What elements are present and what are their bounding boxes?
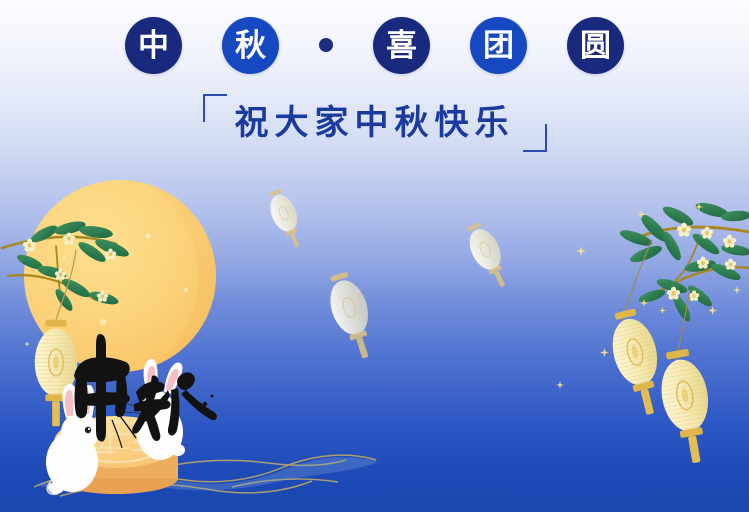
- corner-bracket-close-icon: [523, 124, 547, 152]
- festival-phrase-badges: 中 秋 喜 团 圆: [0, 16, 749, 74]
- badge-tuan[interactable]: 团: [470, 17, 527, 74]
- festival-artwork: [0, 0, 749, 512]
- subtitle-block: 祝大家中秋快乐: [0, 92, 749, 154]
- corner-bracket-open-icon: [203, 94, 227, 122]
- mid-autumn-greeting-banner: 中 秋 喜 团 圆 祝大家中秋快乐: [0, 0, 749, 512]
- floating-lantern-2: [322, 269, 383, 364]
- badge-xi[interactable]: 喜: [373, 17, 430, 74]
- badge-qiu[interactable]: 秋: [222, 17, 279, 74]
- osmanthus-branch-right: [618, 200, 749, 324]
- badge-zhong[interactable]: 中: [125, 17, 182, 74]
- hanging-lantern-right-a: [604, 240, 671, 419]
- separator-dot-icon: [319, 38, 333, 52]
- floating-lantern-3: [461, 219, 515, 292]
- subtitle-text: 祝大家中秋快乐: [235, 102, 515, 145]
- badge-yuan[interactable]: 圆: [567, 17, 624, 74]
- floating-lantern-1: [263, 186, 308, 251]
